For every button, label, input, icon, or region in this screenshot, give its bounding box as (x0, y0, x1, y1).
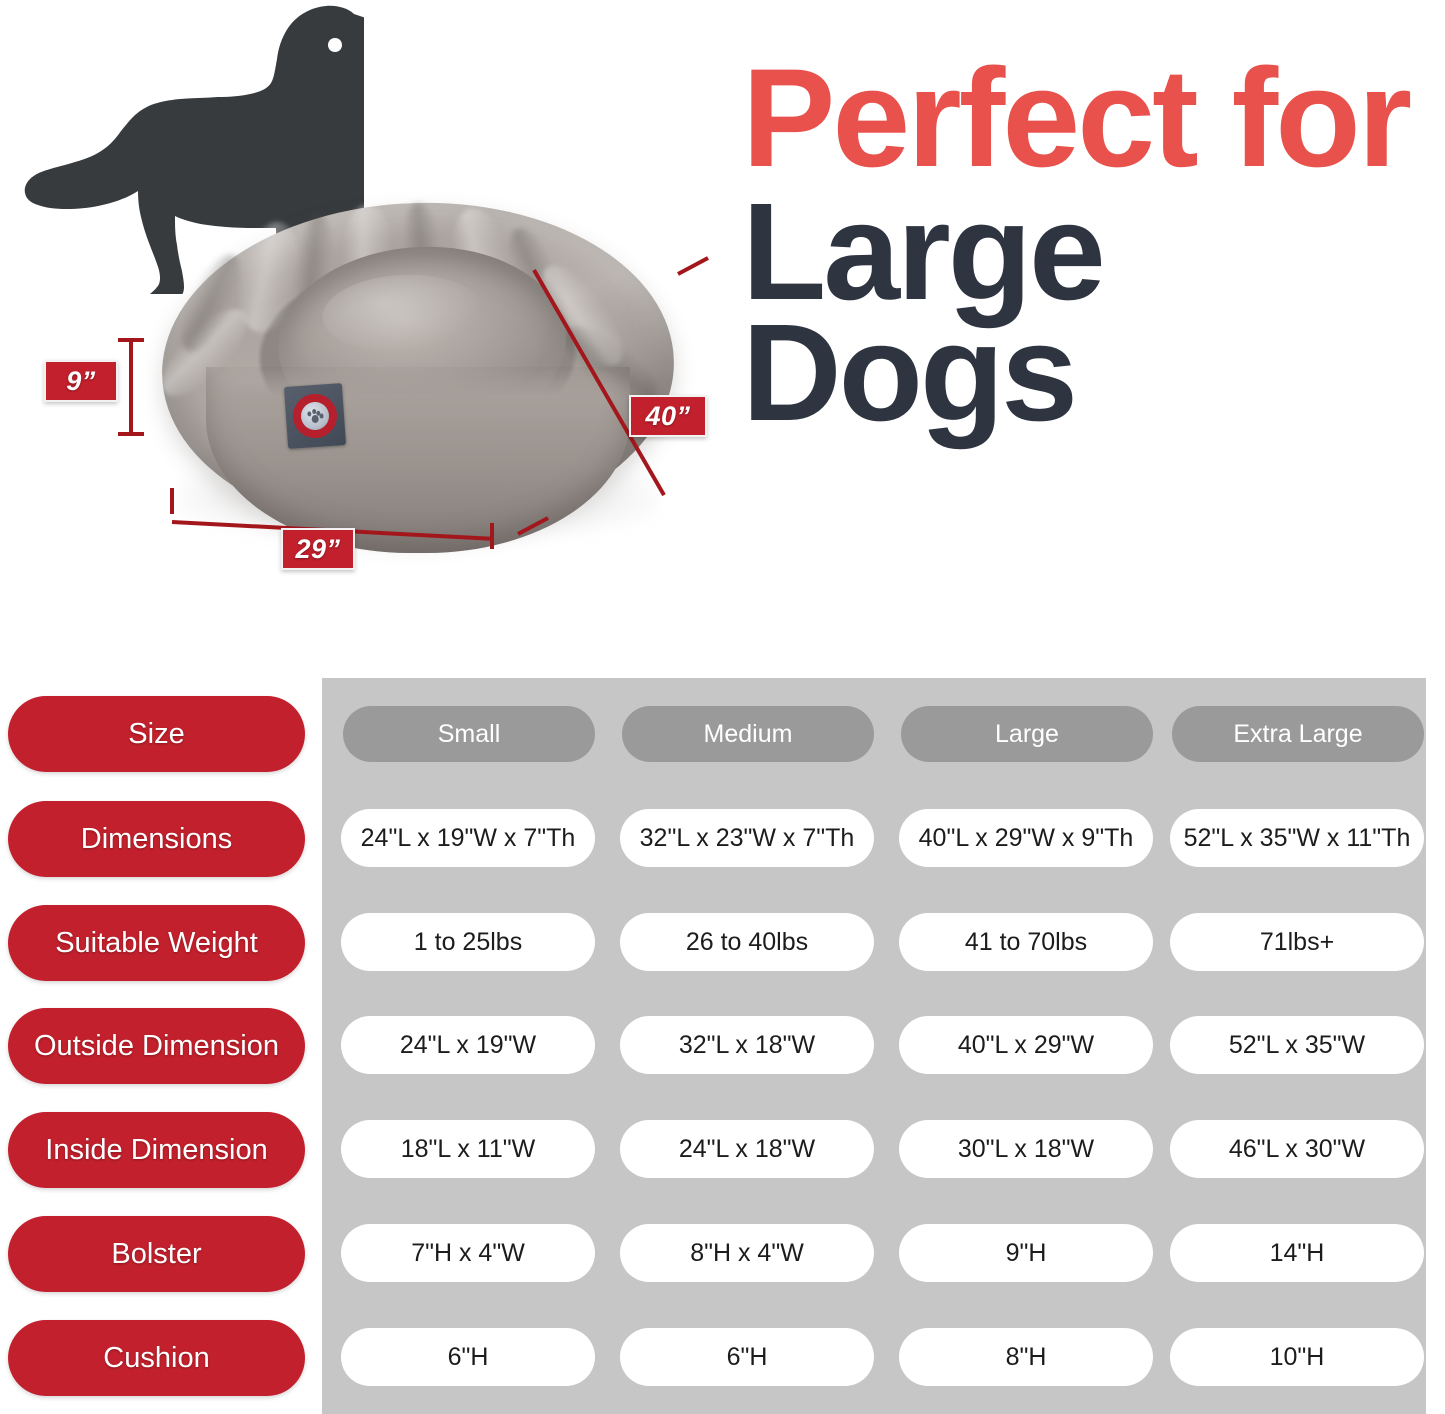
brand-tag (284, 383, 346, 449)
row-label-dimensions: Dimensions (8, 801, 305, 877)
row-label-inside-dimension: Inside Dimension (8, 1112, 305, 1188)
cell-weight-large: 41 to 70lbs (899, 913, 1153, 971)
cell-inside-large: 30"L x 18"W (899, 1120, 1153, 1178)
cell-outside-extra-large: 52"L x 35"W (1170, 1016, 1424, 1074)
cell-weight-small: 1 to 25lbs (341, 913, 595, 971)
cell-bolster-small: 7"H x 4"W (341, 1224, 595, 1282)
column-header-small: Small (343, 706, 595, 762)
cell-cushion-large: 8"H (899, 1328, 1153, 1386)
headline-line-1: Perfect for (742, 54, 1442, 183)
cell-inside-medium: 24"L x 18"W (620, 1120, 874, 1178)
height-measure-line (129, 338, 133, 436)
height-measure-cap-bottom (118, 432, 144, 436)
cell-bolster-medium: 8"H x 4"W (620, 1224, 874, 1282)
width-badge: 29” (281, 528, 355, 570)
row-label-column: Size Dimensions Suitable Weight Outside … (0, 676, 318, 1412)
brand-logo-disc (300, 401, 330, 431)
row-label-bolster: Bolster (8, 1216, 305, 1292)
row-label-suitable-weight: Suitable Weight (8, 905, 305, 981)
height-measure-cap-top (118, 338, 144, 342)
specification-table: Size Dimensions Suitable Weight Outside … (0, 676, 1445, 1414)
cell-inside-small: 18"L x 11"W (341, 1120, 595, 1178)
cell-dimensions-small: 24"L x 19"W x 7"Th (341, 809, 595, 867)
row-label-outside-dimension: Outside Dimension (8, 1008, 305, 1084)
cell-cushion-medium: 6"H (620, 1328, 874, 1386)
cell-dimensions-large: 40"L x 29"W x 9"Th (899, 809, 1153, 867)
hero-section: 9” 29” 40” Perfect for Large Dogs (0, 0, 1445, 660)
cell-bolster-large: 9"H (899, 1224, 1153, 1282)
column-header-large: Large (901, 706, 1153, 762)
cell-dimensions-medium: 32"L x 23"W x 7"Th (620, 809, 874, 867)
width-measure-cap-left (170, 488, 174, 514)
width-measure-cap-right (490, 523, 494, 549)
cell-bolster-extra-large: 14"H (1170, 1224, 1424, 1282)
cell-cushion-extra-large: 10"H (1170, 1328, 1424, 1386)
brand-logo-ring (292, 393, 339, 440)
cell-inside-extra-large: 46"L x 30"W (1170, 1120, 1424, 1178)
cell-outside-small: 24"L x 19"W (341, 1016, 595, 1074)
cell-dimensions-extra-large: 52"L x 35"W x 11"Th (1170, 809, 1424, 867)
column-header-extra-large: Extra Large (1172, 706, 1424, 762)
length-badge: 40” (629, 395, 707, 437)
height-badge: 9” (44, 360, 118, 402)
row-label-cushion: Cushion (8, 1320, 305, 1396)
cell-outside-large: 40"L x 29"W (899, 1016, 1153, 1074)
cell-cushion-small: 6"H (341, 1328, 595, 1386)
cell-weight-medium: 26 to 40lbs (620, 913, 874, 971)
row-label-size: Size (8, 696, 305, 772)
column-header-medium: Medium (622, 706, 874, 762)
headline-block: Perfect for Large Dogs (742, 54, 1442, 437)
cell-weight-extra-large: 71lbs+ (1170, 913, 1424, 971)
paw-print-icon (307, 410, 323, 425)
cell-outside-medium: 32"L x 18"W (620, 1016, 874, 1074)
